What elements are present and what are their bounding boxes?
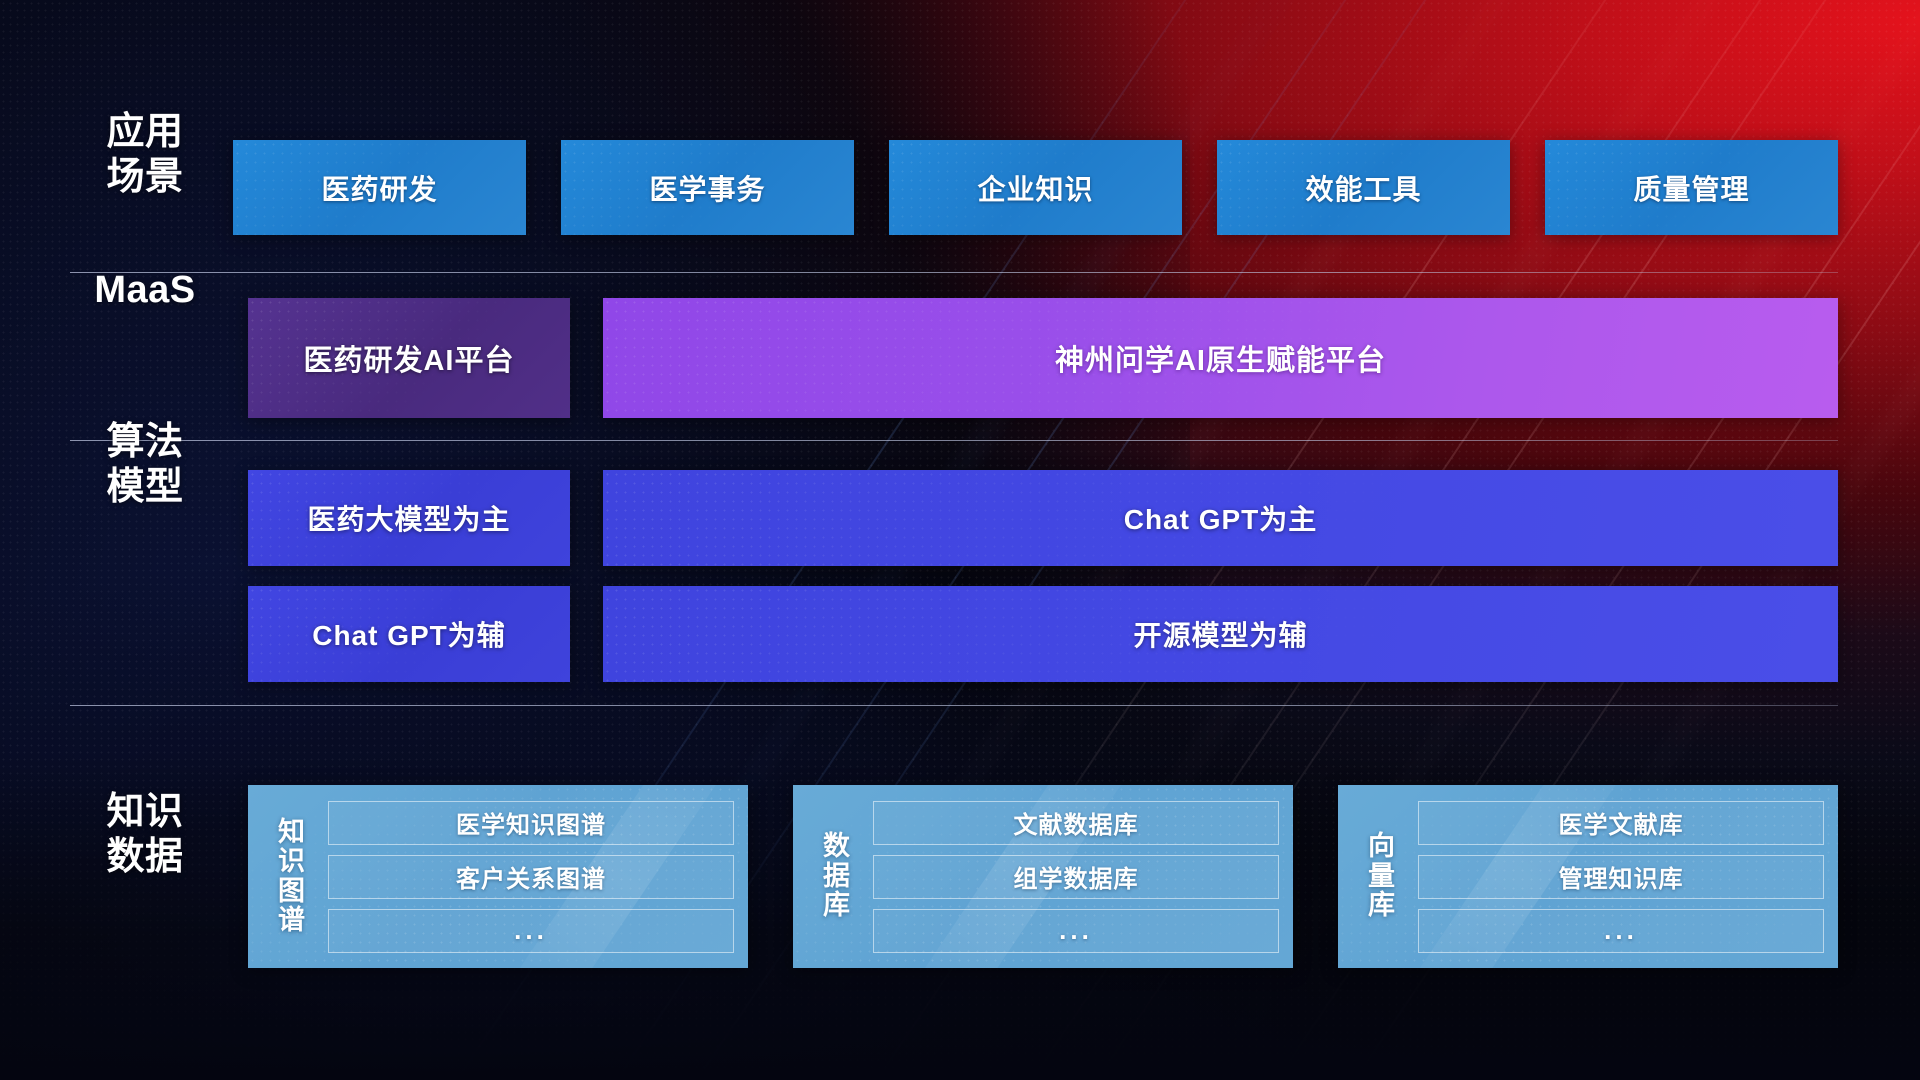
knowledge-item-more[interactable]: ... (873, 909, 1279, 953)
knowledge-item-list: 医学知识图谱 客户关系图谱 ... (328, 797, 734, 956)
knowledge-item[interactable]: 管理知识库 (1418, 855, 1824, 899)
algorithm-box-label: 医药大模型为主 (307, 498, 510, 538)
application-box-medicine-rd[interactable]: 医药研发 (233, 140, 526, 235)
tier-label-knowledge-line1: 知识 (70, 790, 220, 835)
application-box-enterprise-knowledge[interactable]: 企业知识 (889, 140, 1182, 235)
application-scenario-row: 医药研发 医学事务 企业知识 效能工具 质量管理 (233, 140, 1838, 235)
application-box-label: 质量管理 (1633, 168, 1749, 208)
application-box-quality-management[interactable]: 质量管理 (1545, 140, 1838, 235)
knowledge-panel-vertical-label: 数据库 (811, 832, 863, 920)
application-box-label: 企业知识 (977, 168, 1093, 208)
knowledge-item-list: 文献数据库 组学数据库 ... (873, 797, 1279, 956)
knowledge-item[interactable]: 文献数据库 (873, 801, 1279, 845)
application-box-medical-affairs[interactable]: 医学事务 (561, 140, 854, 235)
algorithm-box-label: Chat GPT为辅 (312, 614, 506, 654)
maas-box-label: 神州问学AI原生赋能平台 (1055, 337, 1386, 379)
knowledge-panel-vertical-label: 知识图谱 (266, 818, 318, 936)
knowledge-item-more[interactable]: ... (328, 909, 734, 953)
application-box-label: 医药研发 (321, 168, 437, 208)
algorithm-row-primary: 医药大模型为主 Chat GPT为主 (248, 470, 1838, 566)
knowledge-item[interactable]: 组学数据库 (873, 855, 1279, 899)
maas-box-medicine-ai-platform[interactable]: 医药研发AI平台 (248, 298, 570, 418)
maas-box-shenzhou-wenxue-platform[interactable]: 神州问学AI原生赋能平台 (603, 298, 1838, 418)
algorithm-box-medicine-large-model-primary[interactable]: 医药大模型为主 (248, 470, 570, 566)
maas-row: 医药研发AI平台 神州问学AI原生赋能平台 (248, 298, 1838, 418)
knowledge-panel-vertical-label: 向量库 (1356, 832, 1408, 920)
application-box-label: 医学事务 (649, 168, 765, 208)
knowledge-panel-knowledge-graph[interactable]: 知识图谱 医学知识图谱 客户关系图谱 ... (248, 785, 748, 968)
tier-label-algorithm: 算法 模型 (70, 420, 220, 510)
application-box-label: 效能工具 (1305, 168, 1421, 208)
knowledge-item-list: 医学文献库 管理知识库 ... (1418, 797, 1824, 956)
maas-box-label: 医药研发AI平台 (303, 337, 514, 379)
tier-label-application-line1: 应用 (70, 110, 220, 155)
algorithm-box-label: 开源模型为辅 (1133, 614, 1307, 654)
tier-label-algorithm-line1: 算法 (70, 420, 220, 465)
algorithm-box-label: Chat GPT为主 (1124, 498, 1318, 538)
knowledge-data-row: 知识图谱 医学知识图谱 客户关系图谱 ... 数据库 文献数据库 组学数据库 .… (248, 785, 1838, 968)
tier-label-maas: MaaS (70, 268, 220, 313)
tier-label-knowledge: 知识 数据 (70, 790, 220, 880)
algorithm-row-secondary: Chat GPT为辅 开源模型为辅 (248, 586, 1838, 682)
algorithm-box-opensource-secondary[interactable]: 开源模型为辅 (603, 586, 1838, 682)
knowledge-panel-database[interactable]: 数据库 文献数据库 组学数据库 ... (793, 785, 1293, 968)
tier-label-knowledge-line2: 数据 (70, 835, 220, 880)
knowledge-panel-vector-store[interactable]: 向量库 医学文献库 管理知识库 ... (1338, 785, 1838, 968)
tier-divider-application-maas (70, 272, 1838, 273)
knowledge-item[interactable]: 医学文献库 (1418, 801, 1824, 845)
knowledge-item[interactable]: 客户关系图谱 (328, 855, 734, 899)
tier-divider-algorithm-knowledge (70, 705, 1838, 706)
algorithm-box-chatgpt-primary[interactable]: Chat GPT为主 (603, 470, 1838, 566)
tier-label-application: 应用 场景 (70, 110, 220, 200)
knowledge-item-more[interactable]: ... (1418, 909, 1824, 953)
tier-label-algorithm-line2: 模型 (70, 465, 220, 510)
architecture-diagram: 应用 场景 MaaS 算法 模型 知识 数据 医药研发 医学事务 企业知识 效能… (0, 0, 1920, 1080)
tier-label-application-line2: 场景 (70, 155, 220, 200)
application-box-efficiency-tools[interactable]: 效能工具 (1217, 140, 1510, 235)
knowledge-item[interactable]: 医学知识图谱 (328, 801, 734, 845)
algorithm-box-chatgpt-secondary[interactable]: Chat GPT为辅 (248, 586, 570, 682)
tier-divider-maas-algorithm (70, 440, 1838, 441)
